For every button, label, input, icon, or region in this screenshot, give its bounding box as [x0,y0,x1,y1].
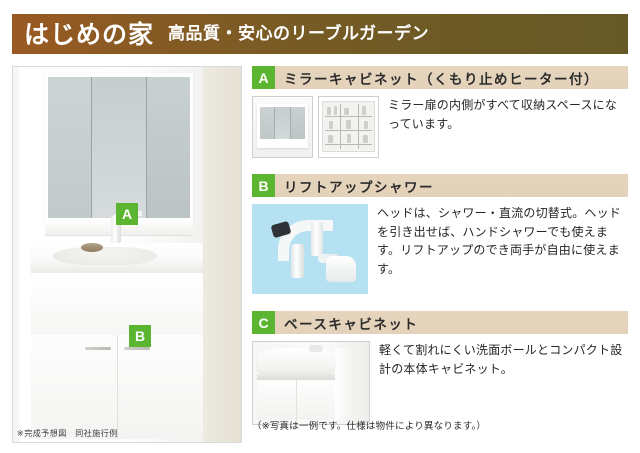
mirror-pane-center [92,77,147,218]
shower-stem [291,244,304,278]
section-b-text: ヘッドは、シャワー・直流の切替式。ヘッドを引き出せば、ハンドシャワーでも使えます… [377,204,625,294]
section-a-body: ミラー扉の内側がすべて収納スペースになっています。 [252,96,628,158]
section-c-header: C ベースキャビネット [252,311,628,334]
door-handle-left [85,347,111,350]
section-a-title: ミラーキャビネット（くもり止めヒーター付） [284,68,599,88]
main-product-photo: A B C ※完成予想図 同社施行例 [12,66,242,443]
feature-section-c: C ベースキャビネット 軽くて割れにくい洗面ボールとコンパクト設計の本体キャビネ… [252,311,628,425]
door-handle-right [124,347,150,350]
thumb-a2-item [334,106,337,115]
thumb-a2-item [329,121,333,129]
section-c-body: 軽くて割れにくい洗面ボールとコンパクト設計の本体キャビネット。 [252,341,628,425]
base-cabinet-tap [309,345,323,352]
base-cabinet-door-right [297,380,336,420]
section-b-title: リフトアップシャワー [284,176,434,196]
wash-basin [53,247,157,265]
feature-list: A ミラーキャビネット（くもり止めヒーター付） [252,66,628,425]
mirror-cabinet-open-photo [318,96,379,158]
footer-note: （※写真は一例です。仕様は物件により異なります。） [252,418,628,432]
mirror-panes [48,77,190,218]
photo-caption: ※完成予想図 同社施行例 [17,428,118,439]
shower-spout-down [311,222,323,256]
mixer-knob [326,256,356,282]
section-b-body: ヘッドは、シャワー・直流の切替式。ヘッドを引き出せば、ハンドシャワーでも使えます… [252,204,628,294]
thumb-a2-item [362,106,366,115]
section-a-text: ミラー扉の内側がすべて収納スペースになっています。 [388,96,628,158]
lift-up-shower-photo [252,204,368,294]
thumb-a2-shelf-2 [325,130,372,131]
thumb-a2-item [344,108,349,115]
vanity-door-left [31,335,118,439]
thumb-a2-shelf-1 [325,116,372,117]
thumb-a2-divider-2 [358,104,359,149]
thumb-a1-pane-1 [260,107,275,139]
vanity-doors [31,335,203,439]
thumb-a2-item [346,120,351,129]
feature-section-a: A ミラーキャビネット（くもり止めヒーター付） [252,66,628,158]
vanity-unit [19,67,203,442]
soap-dish [81,243,103,252]
base-cabinet-photo [252,341,370,425]
thumb-a2-shelf-3 [325,144,372,145]
section-c-text: 軽くて割れにくい洗面ボールとコンパクト設計の本体キャビネット。 [379,341,627,425]
section-a-header: A ミラーキャビネット（くもり止めヒーター付） [252,66,628,89]
section-c-badge: C [252,311,275,334]
section-b-header: B リフトアップシャワー [252,174,628,197]
base-cabinet-basin [257,348,335,372]
section-a-badge: A [252,66,275,89]
vanity-door-right [118,335,204,439]
page-root: はじめの家 高品質・安心のリーブルガーデン [0,0,640,453]
photo-marker-a: A [116,203,138,225]
thumb-a2-item [364,121,368,129]
banner-subtitle: 高品質・安心のリーブルガーデン [168,26,429,43]
thumb-a2-item [327,107,331,115]
section-a-images [252,96,379,158]
base-cabinet-door-left [257,380,297,420]
banner-title: はじめの家 [24,22,154,47]
thumb-a2-case [322,101,375,152]
thumb-a2-item [347,134,351,143]
section-b-badge: B [252,174,275,197]
section-c-title: ベースキャビネット [284,313,418,333]
header-banner: はじめの家 高品質・安心のリーブルガーデン [12,14,628,54]
mirror-pane-right [147,77,190,218]
photo-marker-b: B [129,325,151,347]
vanity-drawer [31,273,203,336]
thumb-a1-pane-2 [275,107,290,139]
thumb-a2-divider-1 [340,104,341,149]
base-cabinet-doors [257,380,335,420]
base-cabinet-side-panel [335,348,357,420]
feature-section-b: B リフトアップシャワー ヘッドは、シャワー・直流の切替式。ヘッドを引き出せば、… [252,174,628,294]
thumb-a2-item [328,135,333,143]
mirror-pane-left [48,77,92,218]
mirror-cabinet-closed-photo [252,96,313,158]
thumb-a1-cabinet [257,104,308,148]
thumb-a1-mirror [260,107,305,139]
thumb-a2-item [363,135,368,143]
thumb-a1-pane-3 [291,107,305,139]
